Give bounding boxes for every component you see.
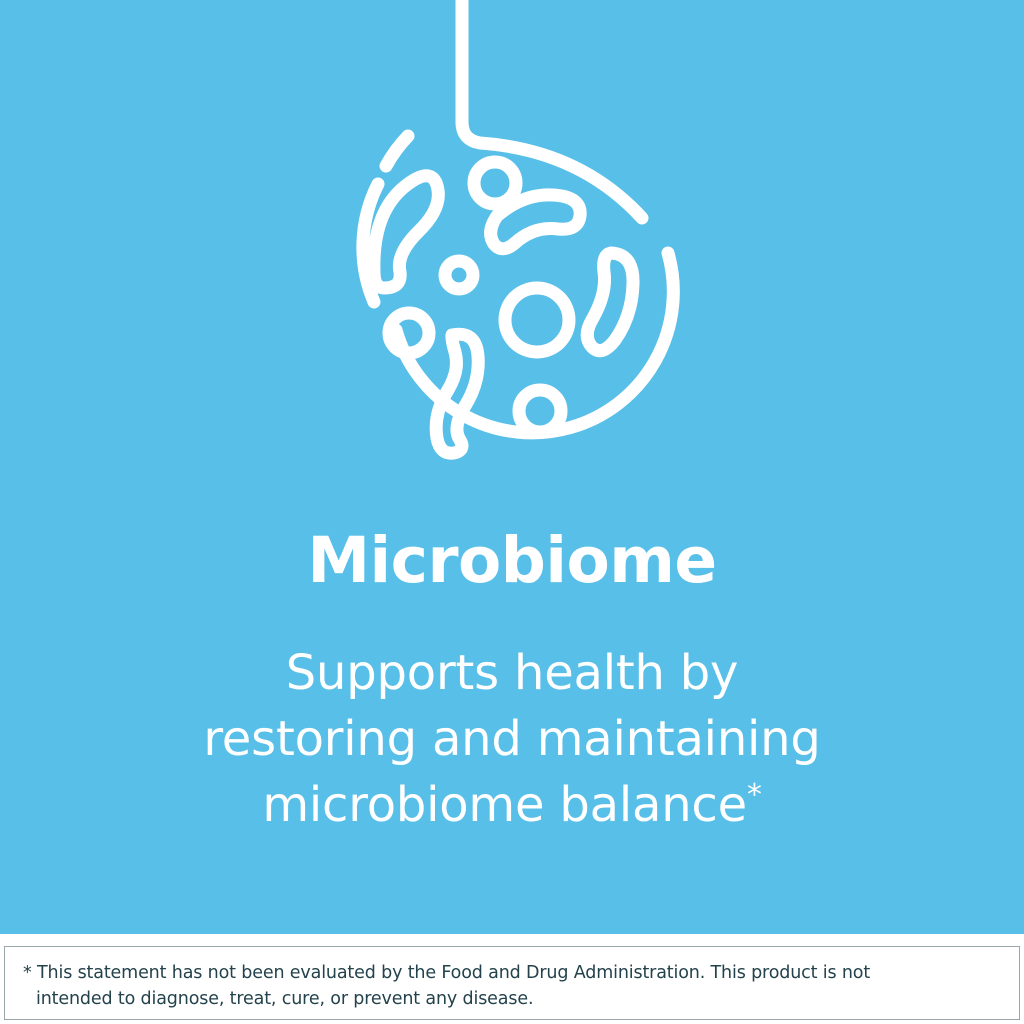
rim-arc-upper-left xyxy=(386,136,408,166)
card-subtitle: Supports health by restoring and maintai… xyxy=(122,640,902,838)
subtitle-line-1: Supports health by xyxy=(122,640,902,706)
microbe-rod-2 xyxy=(491,195,581,249)
disclaimer-box: * This statement has not been evaluated … xyxy=(4,946,1020,1020)
microbe-rod-1 xyxy=(374,176,438,288)
microbe-ring-1 xyxy=(474,162,516,204)
hero-panel: Microbiome Supports health by restoring … xyxy=(0,0,1024,934)
microbe-ring-2 xyxy=(445,261,473,289)
microbiome-petri-dish-icon xyxy=(312,0,712,490)
microbe-rod-4 xyxy=(436,334,478,453)
microbe-ring-3 xyxy=(389,313,429,353)
microbe-ring-5 xyxy=(519,390,561,432)
footnote-marker: * xyxy=(747,778,762,813)
card-title: Microbiome xyxy=(0,528,1024,594)
disclaimer-line-1: * This statement has not been evaluated … xyxy=(23,963,870,983)
microbiome-benefit-card: Microbiome Supports health by restoring … xyxy=(0,0,1024,1024)
subtitle-line-2: restoring and maintaining xyxy=(122,706,902,772)
microbe-ring-4 xyxy=(505,288,569,352)
disclaimer-text: * This statement has not been evaluated … xyxy=(23,960,1001,1012)
subtitle-line-3-text: microbiome balance xyxy=(262,777,747,833)
stem-path xyxy=(462,0,642,218)
microbe-rod-3 xyxy=(587,253,633,351)
disclaimer-line-2: intended to diagnose, treat, cure, or pr… xyxy=(23,986,1001,1012)
subtitle-line-3: microbiome balance* xyxy=(122,772,902,838)
